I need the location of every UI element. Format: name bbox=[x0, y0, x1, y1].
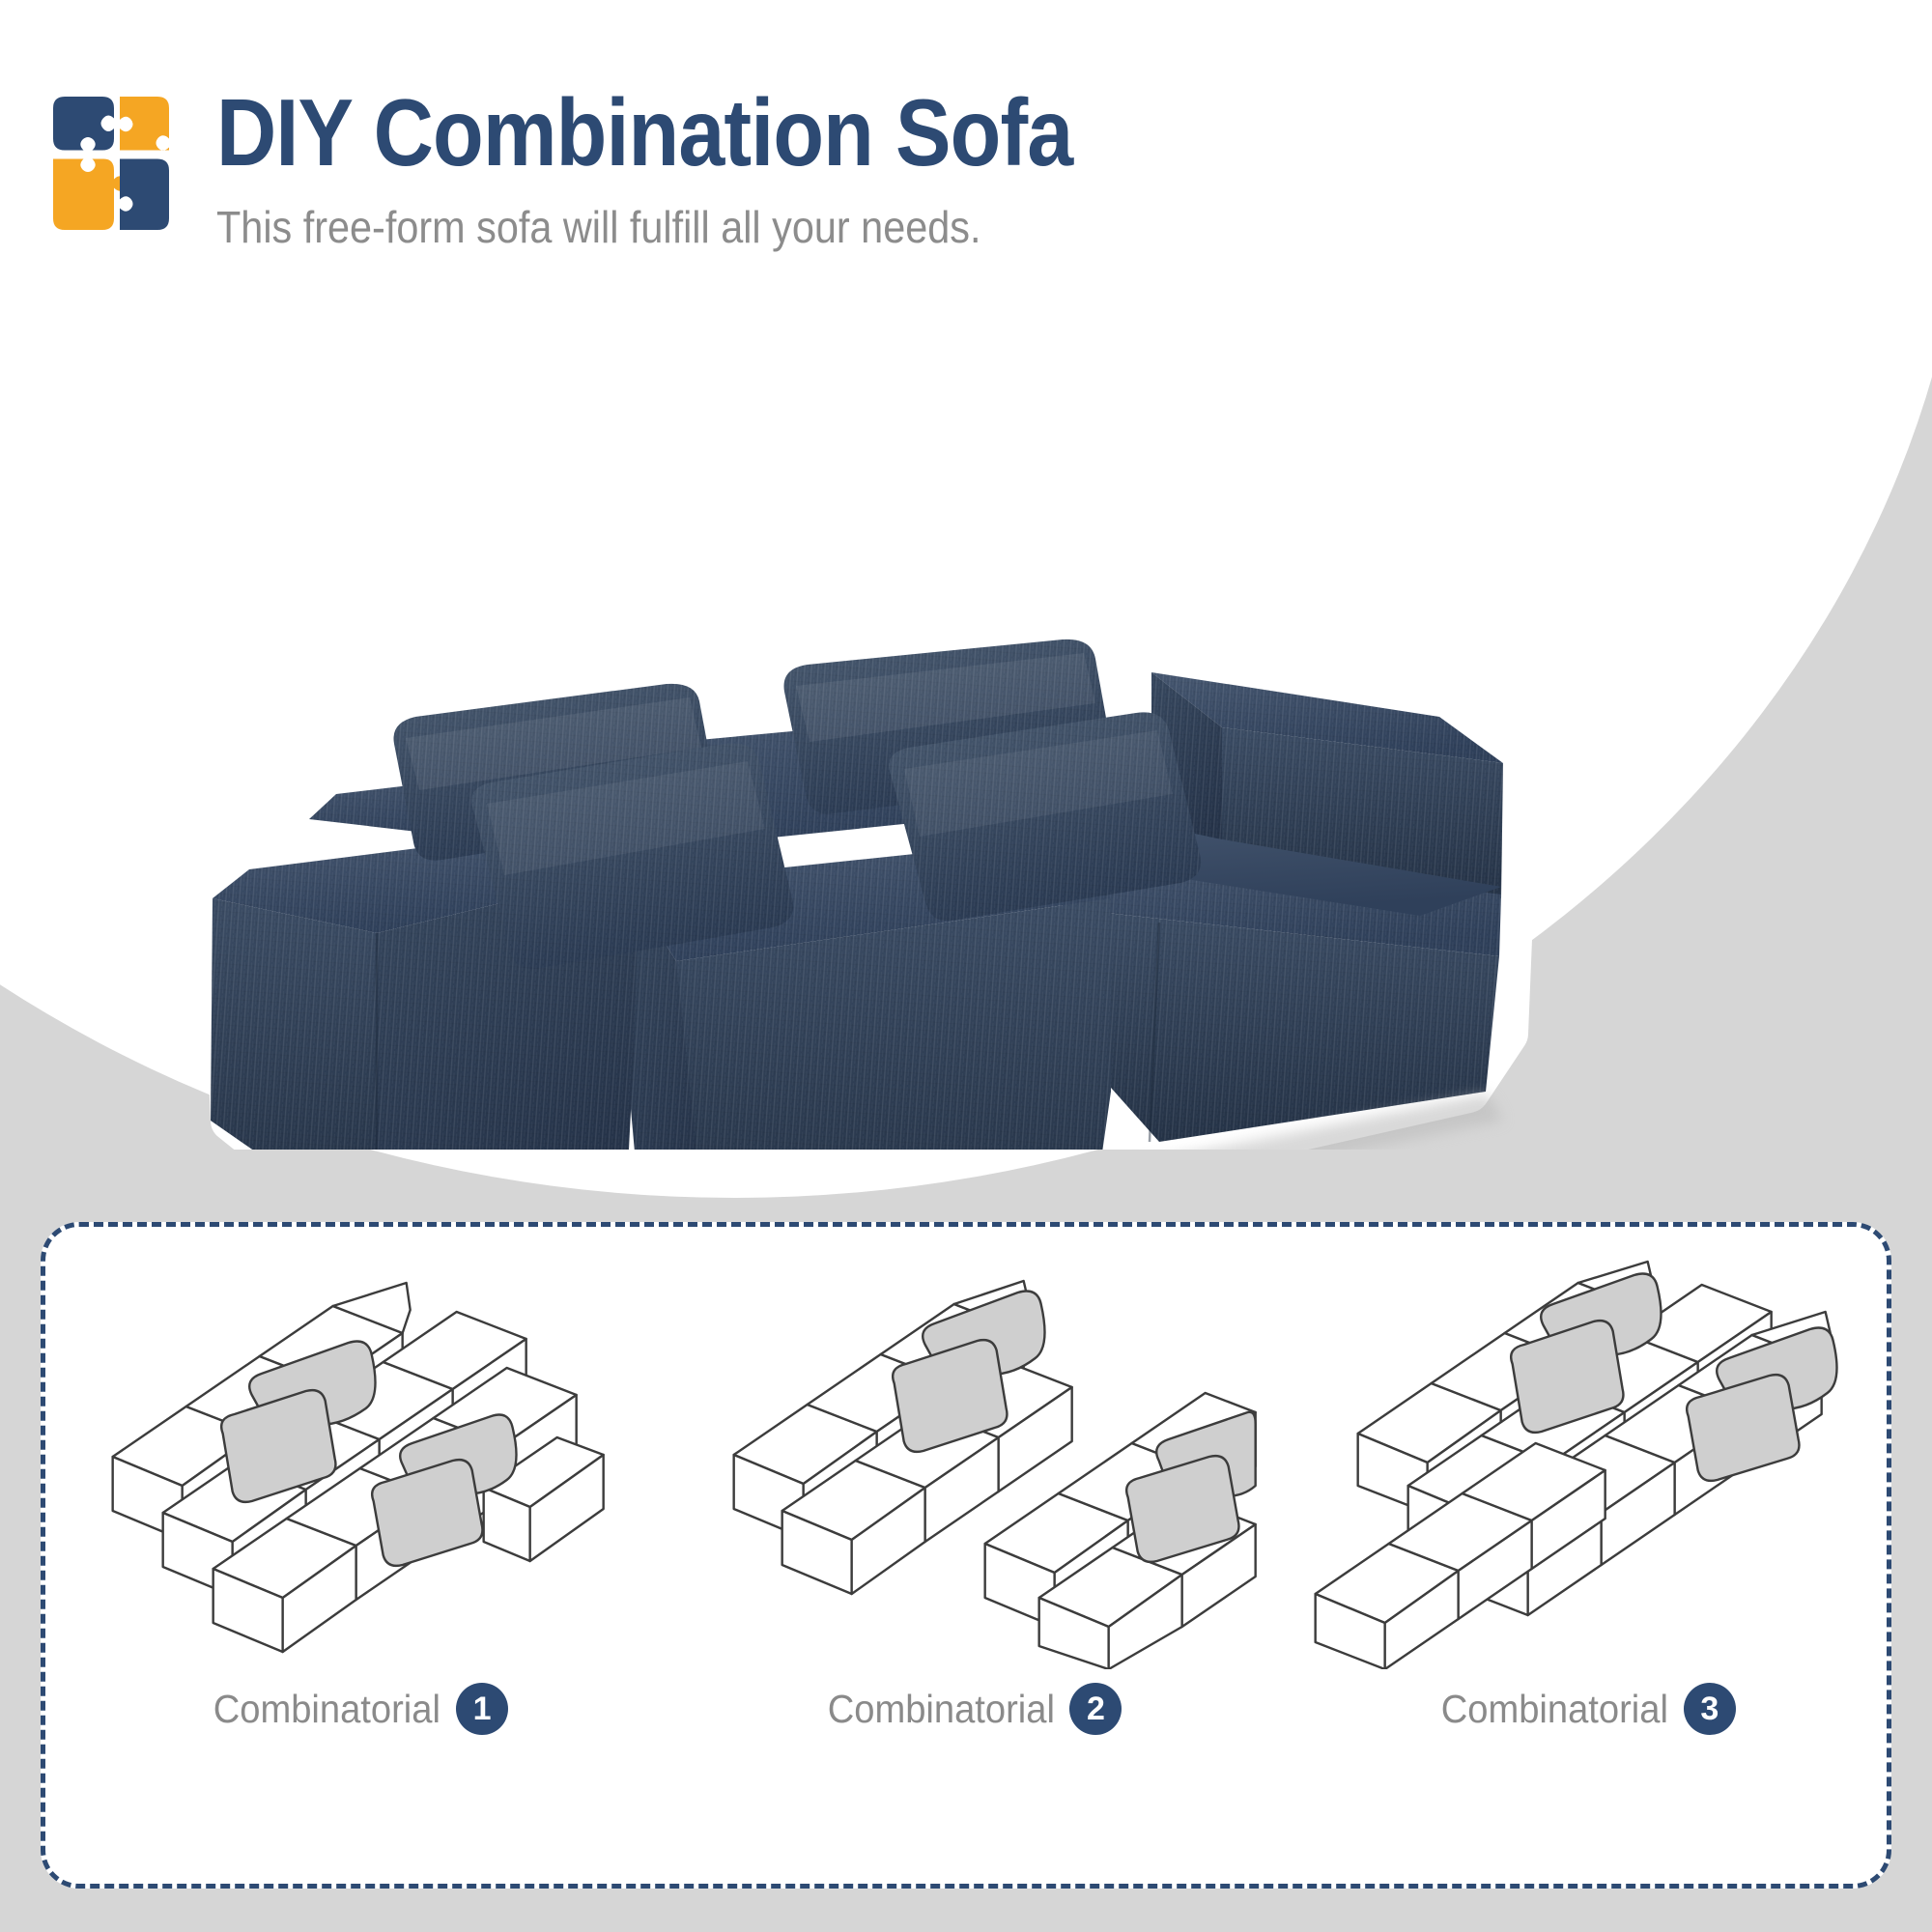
combination-label-text: Combinatorial bbox=[213, 1687, 440, 1732]
puzzle-logo-icon bbox=[44, 91, 189, 236]
header-text-block: DIY Combination Sofa This free-form sofa… bbox=[216, 85, 1189, 253]
page-subtitle: This free-form sofa will fulfill all you… bbox=[216, 201, 1093, 253]
combination-badge: 3 bbox=[1684, 1683, 1736, 1735]
combination-label-3: Combinatorial 3 bbox=[1424, 1683, 1736, 1735]
combination-diagram-1 bbox=[45, 1254, 659, 1669]
combination-label-text: Combinatorial bbox=[827, 1687, 1054, 1732]
combination-label-text: Combinatorial bbox=[1441, 1687, 1668, 1732]
combination-option-3[interactable]: Combinatorial 3 bbox=[1273, 1227, 1887, 1884]
header: DIY Combination Sofa This free-form sofa… bbox=[44, 85, 1189, 253]
combination-badge: 2 bbox=[1069, 1683, 1122, 1735]
combination-label-1: Combinatorial 1 bbox=[196, 1683, 508, 1735]
combination-option-1[interactable]: Combinatorial 1 bbox=[45, 1227, 659, 1884]
combination-option-2[interactable]: Combinatorial 2 bbox=[659, 1227, 1272, 1884]
combinations-row: Combinatorial 1 bbox=[45, 1227, 1887, 1884]
combination-diagram-2 bbox=[659, 1254, 1272, 1669]
combinations-panel: Combinatorial 1 bbox=[41, 1222, 1891, 1889]
combination-diagram-3 bbox=[1273, 1254, 1887, 1669]
combination-label-2: Combinatorial 2 bbox=[810, 1683, 1122, 1735]
page-title: DIY Combination Sofa bbox=[216, 85, 1072, 180]
hero-sofa-image bbox=[87, 357, 1855, 1150]
combination-badge: 1 bbox=[456, 1683, 508, 1735]
